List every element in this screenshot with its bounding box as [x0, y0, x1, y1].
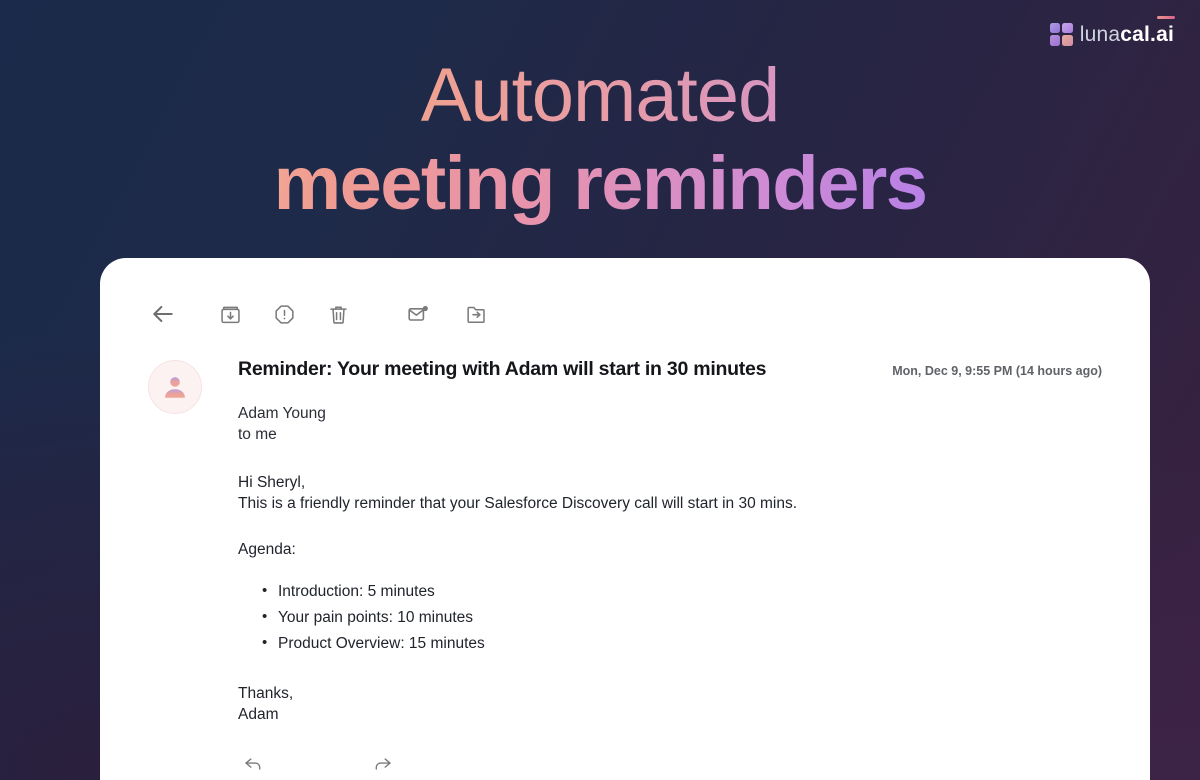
email-actions	[238, 752, 1102, 780]
logo-text-luna: luna	[1080, 23, 1121, 46]
move-to-folder-icon	[465, 303, 488, 326]
recipient-label[interactable]: to me	[238, 424, 1102, 445]
agenda-list: Introduction: 5 minutes Your pain points…	[238, 579, 1102, 657]
list-item: Introduction: 5 minutes	[262, 579, 1102, 605]
reply-button[interactable]	[238, 752, 268, 780]
report-spam-icon	[273, 303, 296, 326]
email-greeting-block: Hi Sheryl, This is a friendly reminder t…	[238, 472, 1102, 515]
email-toolbar	[100, 288, 1150, 340]
arrow-left-icon	[150, 301, 176, 327]
subject-row: Reminder: Your meeting with Adam will st…	[238, 358, 1102, 381]
email-signoff: Thanks, Adam	[238, 683, 1102, 726]
email-client-card: Reminder: Your meeting with Adam will st…	[100, 258, 1150, 780]
forward-icon	[372, 753, 394, 780]
mark-unread-icon	[406, 302, 430, 326]
sender-name: Adam Young	[238, 403, 1102, 424]
logo-text-cal: cal	[1120, 23, 1150, 46]
email-greeting: Hi Sheryl,	[238, 472, 1102, 494]
forward-button[interactable]	[368, 752, 398, 780]
logo-text-ai: ai	[1156, 23, 1174, 46]
agenda-label: Agenda:	[238, 539, 1102, 561]
move-to-folder-button[interactable]	[461, 299, 491, 329]
lunacal-wordmark: lunacal.ai	[1080, 23, 1174, 46]
lunacal-logo: lunacal.ai	[1050, 21, 1174, 47]
email-intro: This is a friendly reminder that your Sa…	[238, 493, 1102, 515]
email-timestamp: Mon, Dec 9, 9:55 PM (14 hours ago)	[874, 364, 1102, 378]
lunacal-grid-logo-icon	[1050, 23, 1073, 46]
hero-line-1: Automated	[0, 52, 1200, 138]
email-header-row: Reminder: Your meeting with Adam will st…	[148, 358, 1102, 780]
email-subject: Reminder: Your meeting with Adam will st…	[238, 358, 766, 381]
person-icon	[160, 372, 190, 402]
email-body: Reminder: Your meeting with Adam will st…	[202, 358, 1102, 780]
trash-icon	[327, 303, 350, 326]
reply-icon	[242, 753, 264, 780]
mark-unread-button[interactable]	[403, 299, 433, 329]
poster-canvas: lunacal.ai Automated meeting reminders	[0, 0, 1200, 780]
hero-line-2: meeting reminders	[0, 138, 1200, 232]
back-button[interactable]	[148, 299, 178, 329]
avatar[interactable]	[148, 360, 202, 414]
hero-headline: Automated meeting reminders	[0, 52, 1200, 232]
archive-button[interactable]	[215, 299, 245, 329]
list-item: Product Overview: 15 minutes	[262, 631, 1102, 657]
archive-icon	[219, 303, 242, 326]
sender-block: Adam Young to me	[238, 403, 1102, 446]
email-message: Reminder: Your meeting with Adam will st…	[100, 358, 1150, 780]
delete-button[interactable]	[323, 299, 353, 329]
report-spam-button[interactable]	[269, 299, 299, 329]
closing-line: Thanks,	[238, 683, 1102, 704]
list-item: Your pain points: 10 minutes	[262, 605, 1102, 631]
signature-line: Adam	[238, 704, 1102, 725]
